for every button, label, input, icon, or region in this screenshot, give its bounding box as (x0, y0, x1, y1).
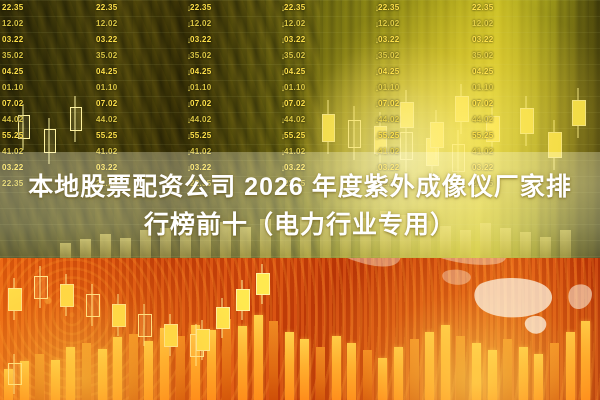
quote-value: 55.25 (472, 128, 546, 144)
quote-value: 01.10 (2, 80, 76, 96)
market-chart-background (0, 258, 600, 400)
arrow-down-icon: ↓ (182, 0, 196, 16)
title-line-1: 本地股票配资公司 2026 年度紫外成像仪厂家排 (28, 168, 572, 206)
arrow-down-icon: ↓ (276, 48, 290, 64)
arrow-down-icon: ↓ (276, 80, 290, 96)
quote-value: 01.10 (472, 80, 546, 96)
arrow-down-icon: ↓ (182, 64, 196, 80)
quote-value: 35.02 (2, 48, 76, 64)
quote-value: 44.02 (472, 112, 546, 128)
world-map-icon (330, 258, 600, 355)
quote-value: 03.22 (190, 32, 264, 48)
quote-value: 01.10 (284, 80, 358, 96)
arrow-down-icon: ↓ (182, 112, 196, 128)
quote-value: 12.02 (2, 16, 76, 32)
quote-value: 07.02 (190, 96, 264, 112)
quote-value: 12.02 (378, 16, 452, 32)
quote-value: 07.02 (96, 96, 170, 112)
quote-value: 22.35 (96, 0, 170, 16)
quote-value: 35.02 (378, 48, 452, 64)
quote-value: 55.25 (378, 128, 452, 144)
quote-value: 35.02 (96, 48, 170, 64)
quote-value: 07.02 (2, 96, 76, 112)
quote-value: 04.25 (2, 64, 76, 80)
quote-value: 55.25 (96, 128, 170, 144)
banner-image: 22.3512.0203.2235.0204.2501.1007.0244.02… (0, 0, 600, 400)
arrow-down-icon: ↓ (276, 112, 290, 128)
arrow-down-icon: ↓ (370, 16, 384, 32)
quote-value: 03.22 (378, 32, 452, 48)
title-line-2: 行榜前十（电力行业专用） (144, 206, 456, 244)
quote-value: 04.25 (96, 64, 170, 80)
quote-value: 07.02 (378, 96, 452, 112)
quote-value: 01.10 (190, 80, 264, 96)
arrow-down-icon: ↓ (182, 32, 196, 48)
arrow-down-icon: ↓ (370, 96, 384, 112)
trend-arrow-column: ↓↓↓↓↓↓↓↓↓↓↓ (182, 0, 196, 176)
arrow-down-icon: ↓ (276, 16, 290, 32)
arrow-down-icon: ↓ (182, 128, 196, 144)
quote-value: 22.35 (190, 0, 264, 16)
quote-value: 03.22 (284, 32, 358, 48)
arrow-down-icon: ↓ (182, 80, 196, 96)
arrow-down-icon: ↓ (370, 48, 384, 64)
quote-value: 44.02 (2, 112, 76, 128)
arrow-down-icon: ↓ (276, 128, 290, 144)
quote-value: 07.02 (472, 96, 546, 112)
arrow-down-icon: ↓ (276, 96, 290, 112)
arrow-down-icon: ↓ (182, 96, 196, 112)
quote-value: 01.10 (378, 80, 452, 96)
arrow-down-icon: ↓ (370, 112, 384, 128)
quote-value: 04.25 (190, 64, 264, 80)
arrow-down-icon: ↓ (370, 128, 384, 144)
arrow-down-icon: ↓ (276, 32, 290, 48)
trend-arrow-column: ↓↓↓↓↓↓↓↓↓↓↓ (276, 0, 290, 176)
quote-value: 12.02 (284, 16, 358, 32)
quote-value: 55.25 (284, 128, 358, 144)
quote-value: 44.02 (96, 112, 170, 128)
arrow-down-icon: ↓ (182, 48, 196, 64)
quote-value: 04.25 (472, 64, 546, 80)
quote-value: 22.35 (2, 0, 76, 16)
arrow-down-icon: ↓ (370, 32, 384, 48)
quote-value: 44.02 (284, 112, 358, 128)
arrow-down-icon: ↓ (370, 64, 384, 80)
quote-value: 44.02 (190, 112, 264, 128)
quote-value: 35.02 (472, 48, 546, 64)
arrow-down-icon: ↓ (276, 0, 290, 16)
trend-arrow-column: ↓↓↓↓↓↓↓↓↓↓↓ (370, 0, 384, 176)
quote-value: 03.22 (472, 32, 546, 48)
quote-value: 12.02 (96, 16, 170, 32)
quote-value: 12.02 (190, 16, 264, 32)
quote-value: 35.02 (284, 48, 358, 64)
banner-title: 本地股票配资公司 2026 年度紫外成像仪厂家排 行榜前十（电力行业专用） (0, 158, 600, 254)
quote-value: 22.35 (472, 0, 546, 16)
quote-value: 55.25 (2, 128, 76, 144)
quote-value: 22.35 (284, 0, 358, 16)
quote-value: 44.02 (378, 112, 452, 128)
quote-value: 04.25 (284, 64, 358, 80)
quote-value: 07.02 (284, 96, 358, 112)
arrow-down-icon: ↓ (370, 80, 384, 96)
arrow-down-icon: ↓ (276, 64, 290, 80)
quote-value: 55.25 (190, 128, 264, 144)
quote-value: 01.10 (96, 80, 170, 96)
quote-value: 03.22 (2, 32, 76, 48)
arrow-down-icon: ↓ (370, 0, 384, 16)
quote-value: 12.02 (472, 16, 546, 32)
glow-bottom-left (0, 258, 260, 400)
quote-value: 03.22 (96, 32, 170, 48)
quote-value: 22.35 (378, 0, 452, 16)
quote-value: 04.25 (378, 64, 452, 80)
arrow-down-icon: ↓ (182, 16, 196, 32)
quote-value: 35.02 (190, 48, 264, 64)
